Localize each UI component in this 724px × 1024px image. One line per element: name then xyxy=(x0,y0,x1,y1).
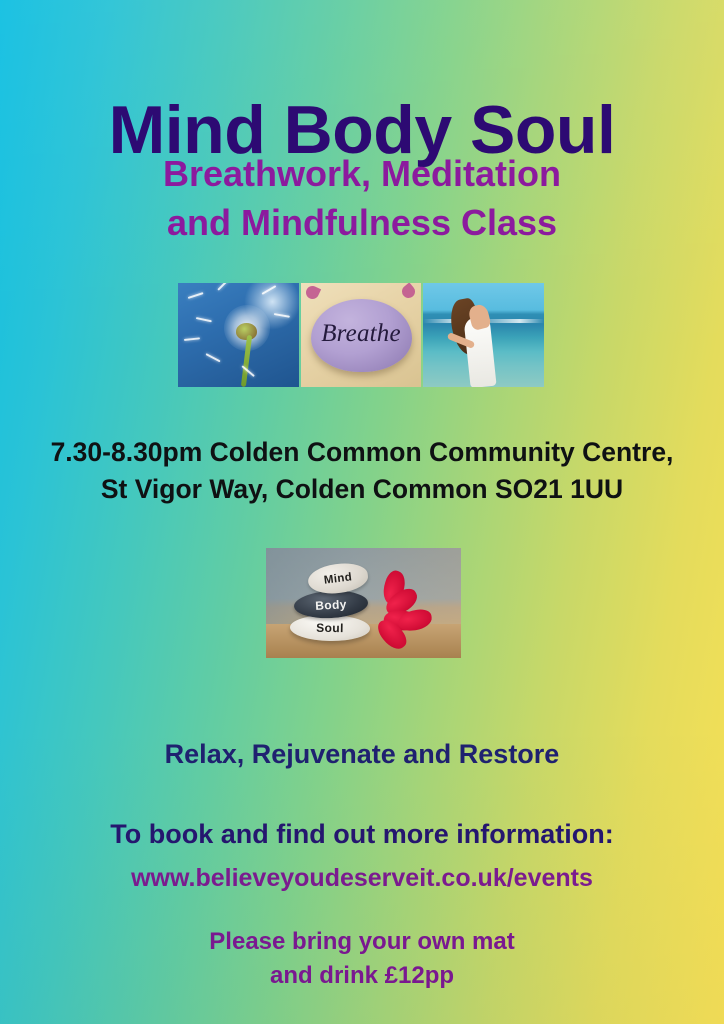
photo-strip-triptych: Breathe xyxy=(178,283,544,387)
subtitle: Breathwork, Meditation and Mindfulness C… xyxy=(0,150,724,247)
poster-canvas: Mind Body Soul Breathwork, Meditation an… xyxy=(0,0,724,1024)
petal-decor-icon xyxy=(400,283,418,301)
dandelion-seed-icon xyxy=(184,337,200,341)
booking-url-link[interactable]: www.believeyoudeserveit.co.uk/events xyxy=(0,864,724,893)
photo-dandelion xyxy=(178,283,299,387)
petal-decor-icon xyxy=(304,284,321,301)
venue-line-1: 7.30-8.30pm Colden Common Community Cent… xyxy=(51,437,674,467)
poster-content: Mind Body Soul Breathwork, Meditation an… xyxy=(0,0,724,1024)
subtitle-line-1: Breathwork, Meditation xyxy=(163,153,561,194)
dandelion-seed-icon xyxy=(206,353,221,362)
venue-line-2: St Vigor Way, Colden Common SO21 1UU xyxy=(0,471,724,508)
dandelion-seed-icon xyxy=(262,285,277,295)
booking-lead-text: To book and find out more information: xyxy=(0,819,724,850)
dandelion-seed-icon xyxy=(188,292,204,299)
breathe-stone-shape: Breathe xyxy=(311,299,412,372)
dandelion-seed-icon xyxy=(217,283,230,291)
subtitle-line-2: and Mindfulness Class xyxy=(0,199,724,248)
dandelion-seed-icon xyxy=(274,313,290,318)
footnote-line-2: and drink £12pp xyxy=(0,959,724,993)
footnote: Please bring your own mat and drink £12p… xyxy=(0,925,724,993)
photo-mind-body-soul-stones: Soul Body Mind xyxy=(266,548,461,658)
dandelion-seed-icon xyxy=(196,317,212,322)
footnote-line-1: Please bring your own mat xyxy=(209,928,514,955)
venue-details: 7.30-8.30pm Colden Common Community Cent… xyxy=(0,434,724,508)
photo-woman-at-beach xyxy=(423,283,544,387)
breathe-stone-word: Breathe xyxy=(321,320,401,348)
frangipani-flower-icon xyxy=(370,588,444,644)
tagline: Relax, Rejuvenate and Restore xyxy=(0,739,724,770)
photo-breathe-stone: Breathe xyxy=(301,283,422,387)
